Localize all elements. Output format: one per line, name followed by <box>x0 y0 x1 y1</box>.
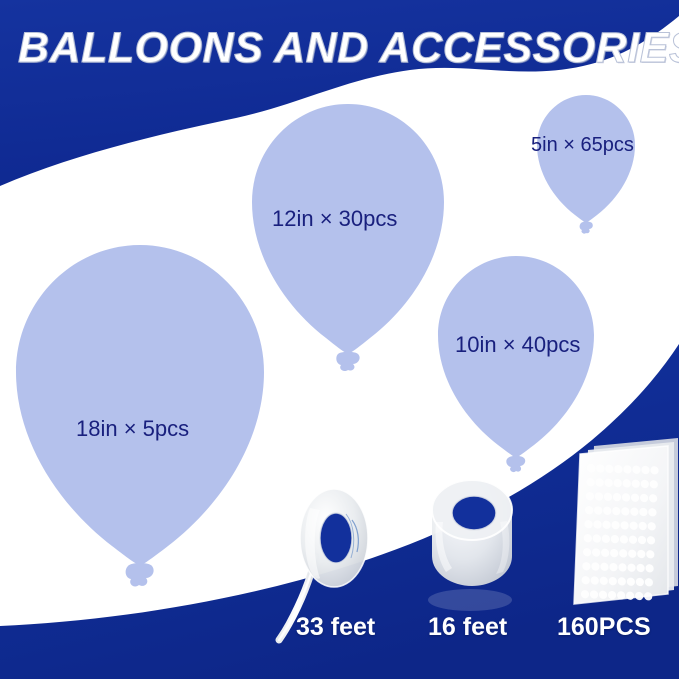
tape-roll-reflection <box>428 589 512 611</box>
balloon-5in-body <box>537 95 635 223</box>
balloon-12in-knot <box>336 352 359 371</box>
balloon-5in[interactable] <box>537 95 635 234</box>
balloon-10in[interactable] <box>438 256 594 472</box>
page-title: BALLOONS AND ACCESSORIES <box>18 20 678 76</box>
balloon-12in-label: 12in × 30pcs <box>272 206 397 232</box>
ribbon-roll-label: 33 feet <box>296 613 375 642</box>
balloon-5in-knot <box>580 222 593 234</box>
glue-dots-count: 160 <box>557 613 599 641</box>
tape-roll-icon[interactable] <box>428 480 512 611</box>
balloon-10in-label: 10in × 40pcs <box>455 332 580 358</box>
balloon-18in-label: 18in × 5pcs <box>76 416 189 442</box>
balloon-18in-knot <box>126 563 154 586</box>
balloon-18in-body <box>16 245 264 566</box>
glue-dots-unit: PCS <box>599 613 651 641</box>
tape-roll-label: 16 feet <box>428 613 507 642</box>
balloon-5in-label: 5in × 65pcs <box>531 134 634 157</box>
balloon-12in[interactable] <box>252 104 444 371</box>
glue-dots-sheet-icon[interactable] <box>574 438 678 605</box>
poster-canvas: BALLOONS AND ACCESSORIES 18in × 5pcs 12i… <box>0 0 679 679</box>
glue-dots-sheet-label: 160PCS <box>557 613 651 642</box>
balloon-10in-knot <box>506 456 525 472</box>
